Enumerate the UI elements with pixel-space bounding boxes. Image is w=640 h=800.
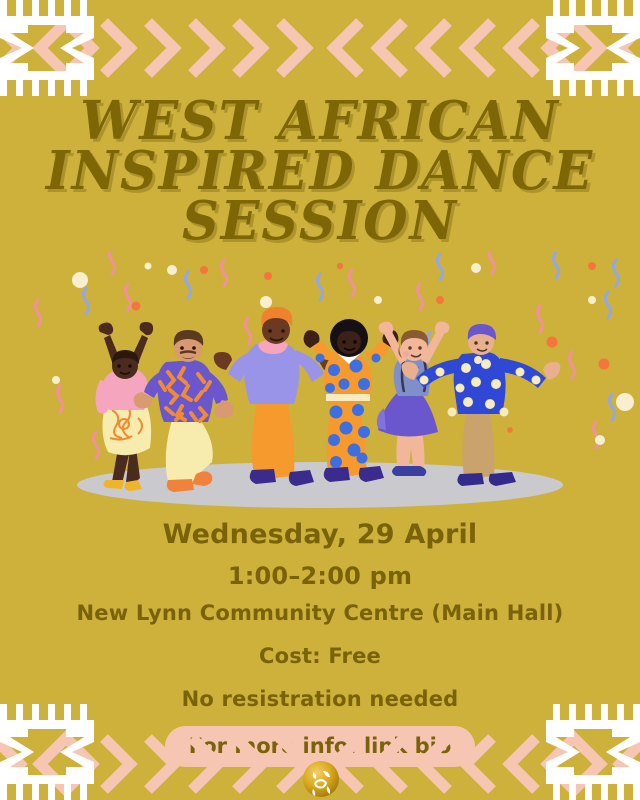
title-line-3: SESSION <box>13 196 627 246</box>
top-border-pattern <box>0 0 640 96</box>
dancers-illustration <box>0 252 640 512</box>
event-venue: New Lynn Community Centre (Main Hall) <box>0 598 640 628</box>
top-border-chevrons <box>0 22 640 74</box>
event-cost: Cost: Free <box>0 641 640 671</box>
organisation-logo <box>303 758 339 800</box>
dancer-3 <box>214 307 337 486</box>
poster-canvas: WEST AFRICAN INSPIRED DANCE SESSION <box>0 0 640 800</box>
title-line-2: INSPIRED DANCE <box>13 146 627 196</box>
poster-title: WEST AFRICAN INSPIRED DANCE SESSION <box>0 96 640 246</box>
title-line-1: WEST AFRICAN <box>13 96 627 146</box>
event-date: Wednesday, 29 April <box>0 518 640 552</box>
dancer-4 <box>304 319 399 482</box>
event-time: 1:00–2:00 pm <box>0 560 640 592</box>
